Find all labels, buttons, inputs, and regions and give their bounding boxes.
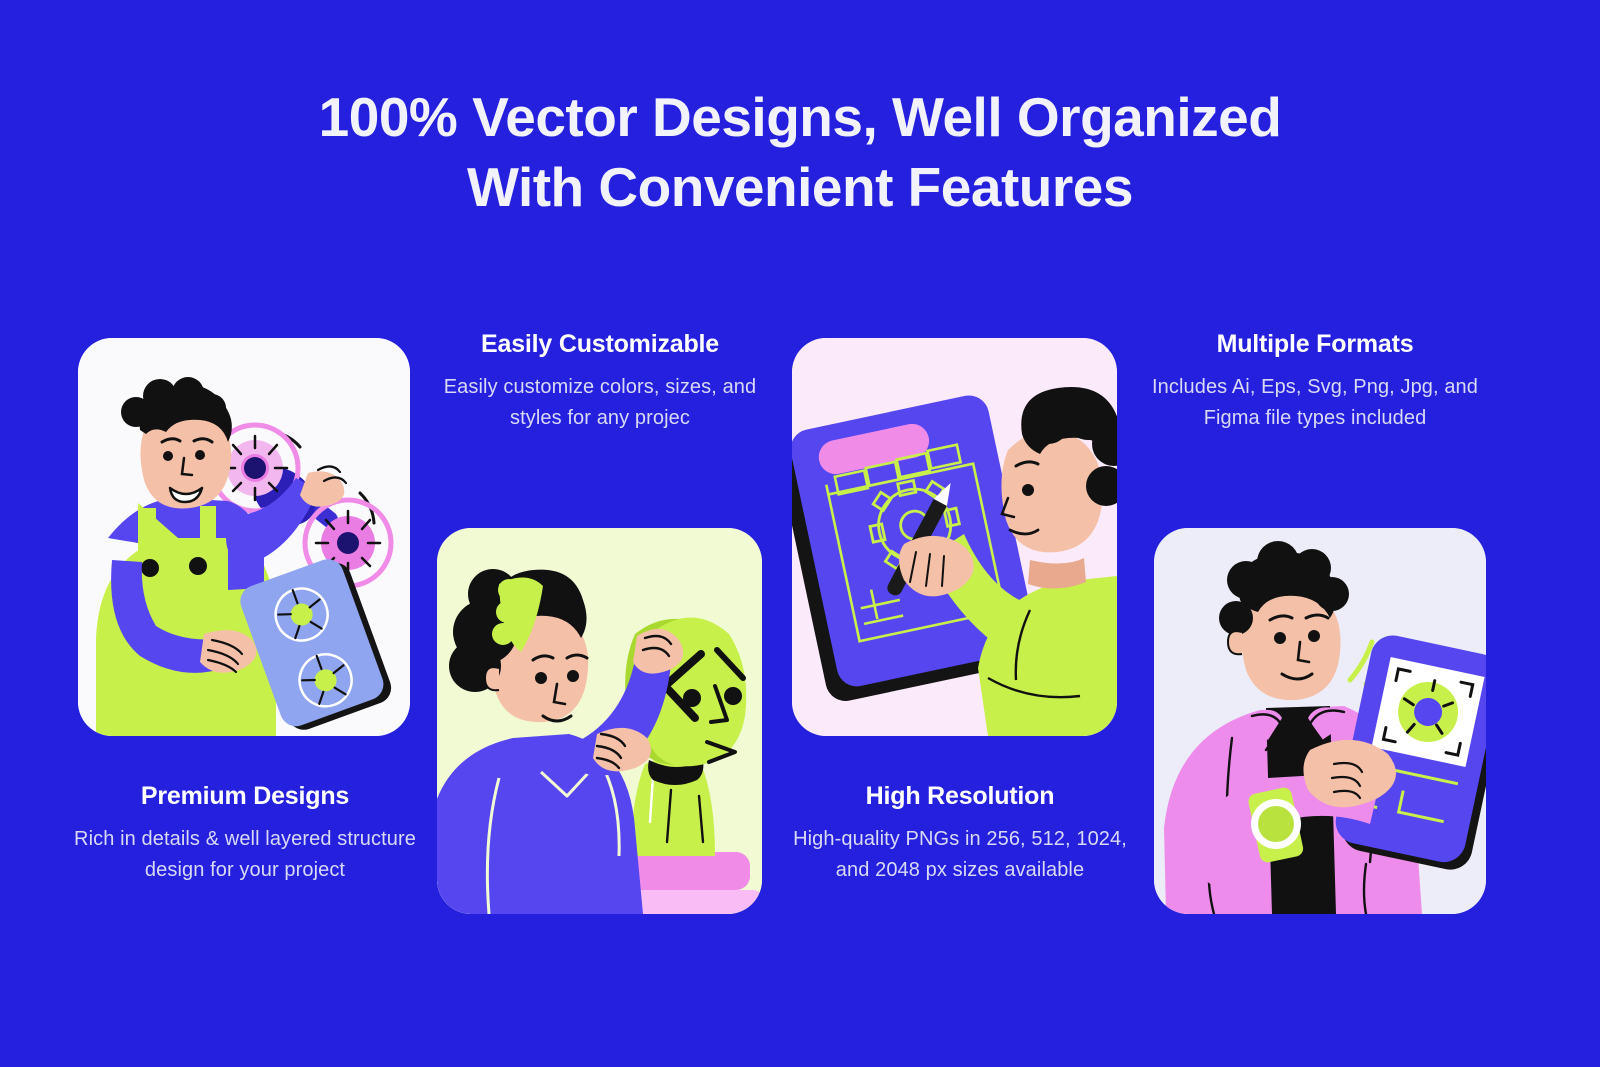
card-easily-customizable xyxy=(437,528,762,914)
feature-description: Rich in details & well layered structure… xyxy=(70,824,420,886)
tablet-blueprint-illustration xyxy=(792,338,1117,736)
feature-title: Multiple Formats xyxy=(1140,330,1490,359)
feature-title: High Resolution xyxy=(790,782,1130,811)
card-multiple-formats xyxy=(1154,528,1486,914)
page-title: 100% Vector Designs, Well Organized With… xyxy=(0,82,1600,222)
feature-text-easily-customizable: Easily Customizable Easily customize col… xyxy=(430,330,770,434)
feature-text-premium-designs: Premium Designs Rich in details & well l… xyxy=(70,782,420,886)
feature-text-multiple-formats: Multiple Formats Includes Ai, Eps, Svg, … xyxy=(1140,330,1490,434)
drone-pilot-illustration xyxy=(78,338,410,736)
feature-title: Premium Designs xyxy=(70,782,420,811)
mask-sculpture-illustration xyxy=(437,528,762,914)
feature-text-high-resolution: High Resolution High-quality PNGs in 256… xyxy=(790,782,1130,886)
feature-description: Includes Ai, Eps, Svg, Png, Jpg, and Fig… xyxy=(1140,372,1490,434)
feature-title: Easily Customizable xyxy=(430,330,770,359)
phone-scan-illustration xyxy=(1154,528,1486,914)
card-premium-designs xyxy=(78,338,410,736)
feature-description: High-quality PNGs in 256, 512, 1024, and… xyxy=(790,824,1130,886)
poster-root: 100% Vector Designs, Well Organized With… xyxy=(0,0,1600,1067)
card-high-resolution xyxy=(792,338,1117,736)
feature-description: Easily customize colors, sizes, and styl… xyxy=(430,372,770,434)
